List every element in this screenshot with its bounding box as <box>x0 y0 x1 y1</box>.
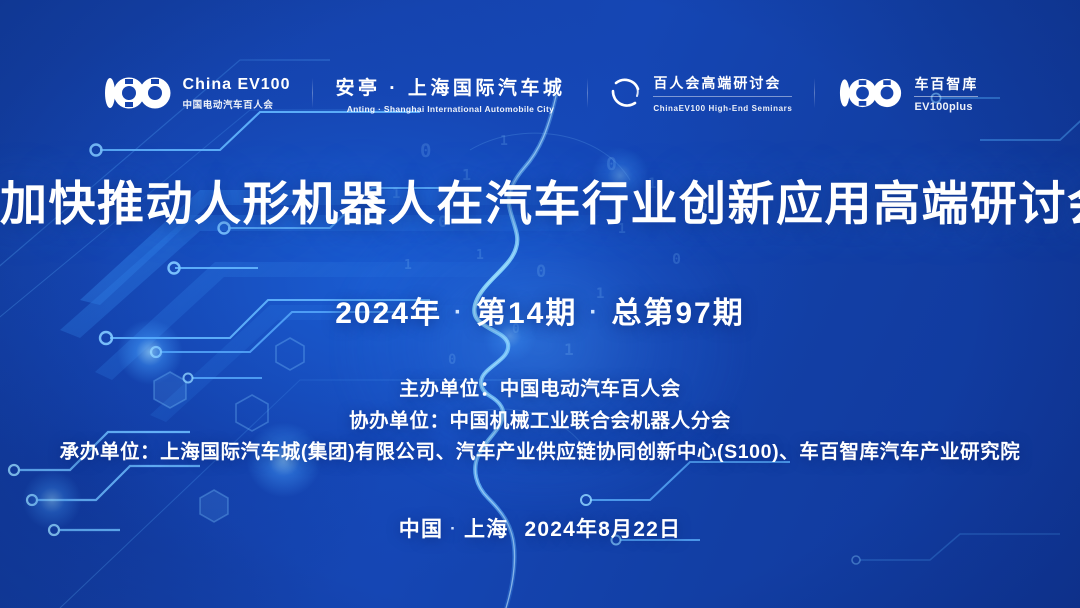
binary-digit: 0 <box>448 352 456 368</box>
logo-high-end-seminars: 百人会高端研讨会 ChinaEV100 High-End Seminars <box>594 65 808 121</box>
binary-digit: 1 <box>404 258 412 273</box>
ev100-infinity-icon <box>102 76 174 110</box>
logo-primary-text: 安亭 · 上海国际汽车城 <box>335 73 565 100</box>
logo-ev100plus: 车百智库 EV100plus <box>821 65 994 121</box>
logo-rule <box>914 96 978 97</box>
logo-divider <box>587 78 588 108</box>
logo-china-ev100: China EV100 中国电动汽车百人会 <box>86 65 307 121</box>
binary-digit: 0 <box>606 154 617 175</box>
edition-total: 总第97期 <box>611 297 744 330</box>
logo-primary-text: 车百智库 <box>914 74 978 94</box>
binary-digit: 1 <box>564 340 574 359</box>
binary-digit: 0 <box>536 262 546 282</box>
logo-divider <box>814 78 815 108</box>
binary-digit: 0 <box>420 140 431 162</box>
binary-digit: 1 <box>476 248 484 263</box>
organizer-undertaker: 承办单位：上海国际汽车城(集团)有限公司、汽车产业供应链协同创新中心(S100)… <box>0 437 1080 469</box>
edition-year: 2024年 <box>335 297 442 330</box>
footer-date: 2024年8月22日 <box>524 518 681 541</box>
logo-secondary-text: ChinaEV100 High-End Seminars <box>653 104 792 113</box>
logo-anting-auto-city: 安亭 · 上海国际汽车城 Anting · Shanghai Internati… <box>319 65 581 121</box>
logo-primary-text: 百人会高端研讨会 <box>653 73 781 93</box>
logo-divider <box>312 78 313 108</box>
binary-digit: 1 <box>500 134 508 149</box>
footer-city: 上海 <box>464 518 508 541</box>
footer-separator: · <box>443 519 464 538</box>
edition-issue: 第14期 <box>476 297 577 330</box>
edition-separator: · <box>442 299 476 326</box>
organizer-block: 主办单位：中国电动汽车百人会 协办单位：中国机械工业联合会机器人分会 承办单位：… <box>0 374 1080 469</box>
logo-secondary-text: EV100plus <box>914 101 978 113</box>
seminar-swoosh-icon <box>610 77 644 109</box>
event-edition: 2024年·第14期·总第97期 <box>0 288 1080 332</box>
logo-primary-text: China EV100 <box>183 76 291 94</box>
event-poster: 0 1 1 0 1 0 1 0 1 1 0 1 0 1 1 0 1 0 <box>0 0 1080 608</box>
sponsor-logo-row: China EV100 中国电动汽车百人会 安亭 · 上海国际汽车城 Antin… <box>0 62 1080 124</box>
logo-secondary-text: Anting · Shanghai International Automobi… <box>347 104 554 114</box>
organizer-co-host: 协办单位：中国机械工业联合会机器人分会 <box>0 406 1080 438</box>
logo-rule <box>653 96 792 97</box>
event-location-date: 中国·上海2024年8月22日 <box>0 513 1080 543</box>
ev100plus-infinity-icon <box>837 77 905 109</box>
organizer-host: 主办单位：中国电动汽车百人会 <box>0 374 1080 406</box>
footer-country: 中国 <box>399 518 443 541</box>
logo-secondary-text: 中国电动汽车百人会 <box>183 97 291 111</box>
event-title: 加快推动人形机器人在汽车行业创新应用高端研讨会 <box>0 176 1080 231</box>
binary-digit: 0 <box>672 250 681 268</box>
edition-separator: · <box>577 299 611 326</box>
